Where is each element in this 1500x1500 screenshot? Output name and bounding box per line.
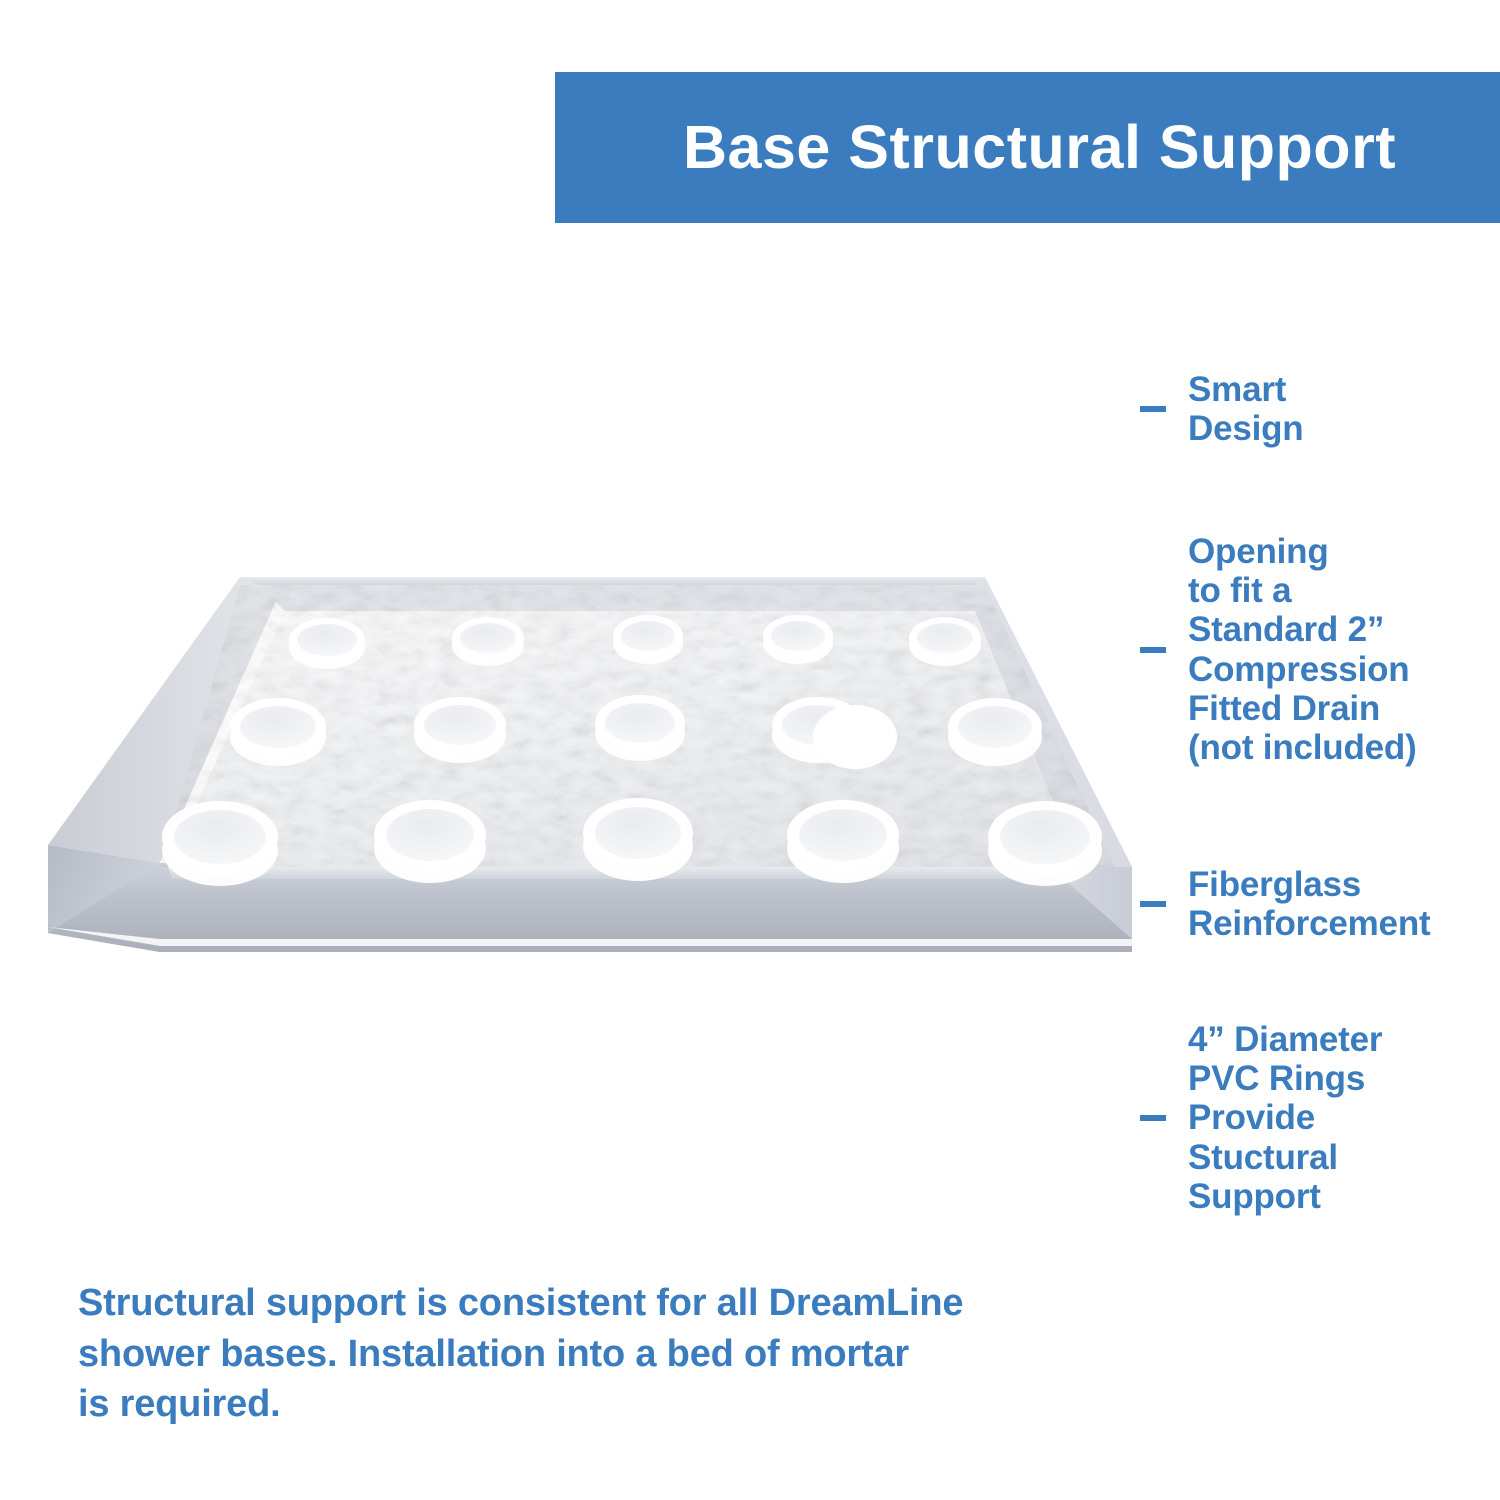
pvc-ring — [583, 798, 693, 881]
footer-caption: Structural support is consistent for all… — [78, 1278, 1028, 1430]
pvc-ring — [595, 695, 685, 761]
pvc-ring — [414, 697, 506, 763]
callout-drain-opening: Opening to fit a Standard 2” Compression… — [1140, 532, 1500, 767]
pvc-ring — [230, 698, 326, 766]
callout-label: Opening to fit a Standard 2” Compression… — [1188, 532, 1417, 767]
pvc-ring — [763, 615, 833, 664]
callout-pvc-rings: 4” Diameter PVC Rings Provide Stuctural … — [1140, 1020, 1500, 1216]
product-illustration — [40, 515, 1180, 1005]
pvc-ring — [452, 617, 524, 666]
pvc-ring — [988, 801, 1102, 886]
page-title: Base Structural Support — [683, 117, 1396, 178]
drain-hole — [813, 705, 897, 769]
base-rim-back-top — [240, 577, 985, 585]
pvc-ring — [613, 615, 683, 664]
pvc-ring — [909, 617, 981, 666]
pvc-ring — [948, 698, 1042, 766]
header-banner: Base Structural Support — [555, 72, 1500, 223]
dash-marker-icon — [1140, 1115, 1166, 1121]
callout-fiberglass-reinforcement: Fiberglass Reinforcement — [1140, 865, 1500, 943]
pvc-ring — [787, 800, 899, 883]
dash-marker-icon — [1140, 406, 1166, 412]
pvc-ring — [374, 800, 486, 883]
pvc-ring — [289, 618, 365, 669]
callout-smart-design: Smart Design — [1140, 370, 1500, 448]
dash-marker-icon — [1140, 647, 1166, 653]
dash-marker-icon — [1140, 901, 1166, 907]
callout-label: Fiberglass Reinforcement — [1188, 865, 1430, 943]
shower-base-graphic — [40, 515, 1180, 1005]
callout-label: Smart Design — [1188, 370, 1304, 448]
pvc-ring — [162, 801, 278, 886]
callout-label: 4” Diameter PVC Rings Provide Stuctural … — [1188, 1020, 1382, 1216]
